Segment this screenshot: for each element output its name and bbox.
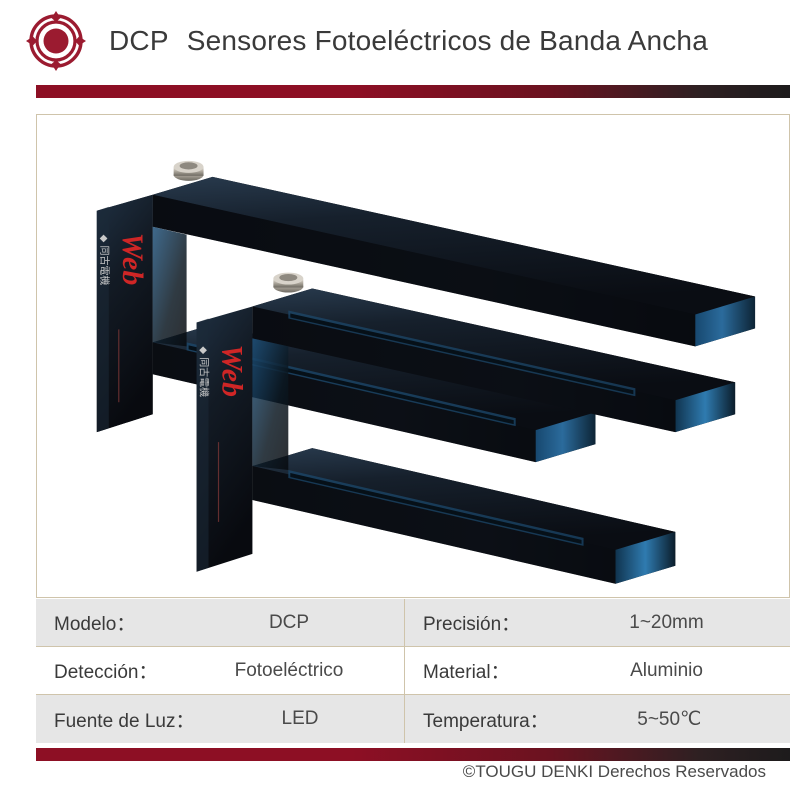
svg-text:Web: Web: [116, 233, 149, 286]
spec-cell-material: Material： Aluminio: [405, 647, 790, 694]
page-header: DCPSensores Fotoeléctricos de Banda Anch…: [0, 0, 800, 82]
spec-label: Material：: [423, 657, 543, 684]
svg-text:Web: Web: [215, 344, 248, 397]
spec-value: Fotoeléctrico: [235, 660, 344, 682]
product-photo: Web ◆ 同古電機: [37, 115, 789, 598]
spec-cell-modelo: Modelo： DCP: [36, 599, 405, 646]
connector-nut-lower: [273, 273, 303, 293]
connector-nut-upper: [174, 161, 204, 181]
table-row: Modelo： DCP Precisión： 1~20mm: [36, 599, 790, 647]
product-image-frame: Web ◆ 同古電機: [36, 114, 790, 598]
table-row: Fuente de Luz： LED Temperatura： 5~50℃: [36, 695, 790, 743]
company-logo: [25, 10, 87, 72]
title-model: DCP: [109, 25, 169, 56]
svg-text:◆ 同古電機: ◆ 同古電機: [98, 235, 111, 286]
header-accent-bar: [36, 85, 790, 98]
spec-label: Detección：: [54, 657, 174, 684]
svg-text:◆ 同古電機: ◆ 同古電機: [198, 346, 211, 397]
spec-cell-fuente-de-luz: Fuente de Luz： LED: [36, 695, 405, 743]
spec-value: DCP: [269, 612, 309, 634]
spec-cell-precision: Precisión： 1~20mm: [405, 599, 790, 646]
brand-mark-lower: Web ◆ 同古電機: [198, 344, 249, 397]
spec-value: Aluminio: [630, 660, 703, 682]
spec-value: 1~20mm: [629, 612, 703, 634]
title-description: Sensores Fotoeléctricos de Banda Ancha: [187, 25, 708, 56]
copyright-notice: ©TOUGU DENKI Derechos Reservados: [0, 762, 800, 782]
brand-mark-upper: Web ◆ 同古電機: [98, 233, 149, 286]
spec-cell-temperatura: Temperatura： 5~50℃: [405, 695, 790, 743]
page-title: DCPSensores Fotoeléctricos de Banda Anch…: [109, 25, 708, 57]
specifications-table: Modelo： DCP Precisión： 1~20mm Detección：…: [36, 599, 790, 745]
spec-label: Precisión：: [423, 609, 543, 636]
product-spec-sheet: DCPSensores Fotoeléctricos de Banda Anch…: [0, 0, 800, 800]
spec-label: Temperatura：: [423, 706, 549, 733]
concentric-target-logo-icon: [25, 10, 87, 72]
spec-value: 5~50℃: [637, 708, 701, 731]
table-row: Detección： Fotoeléctrico Material： Alumi…: [36, 647, 790, 695]
spec-cell-deteccion: Detección： Fotoeléctrico: [36, 647, 405, 694]
spec-label: Fuente de Luz：: [54, 706, 196, 733]
spec-value: LED: [282, 708, 319, 730]
spec-label: Modelo：: [54, 609, 174, 636]
footer-accent-bar: [36, 748, 790, 761]
